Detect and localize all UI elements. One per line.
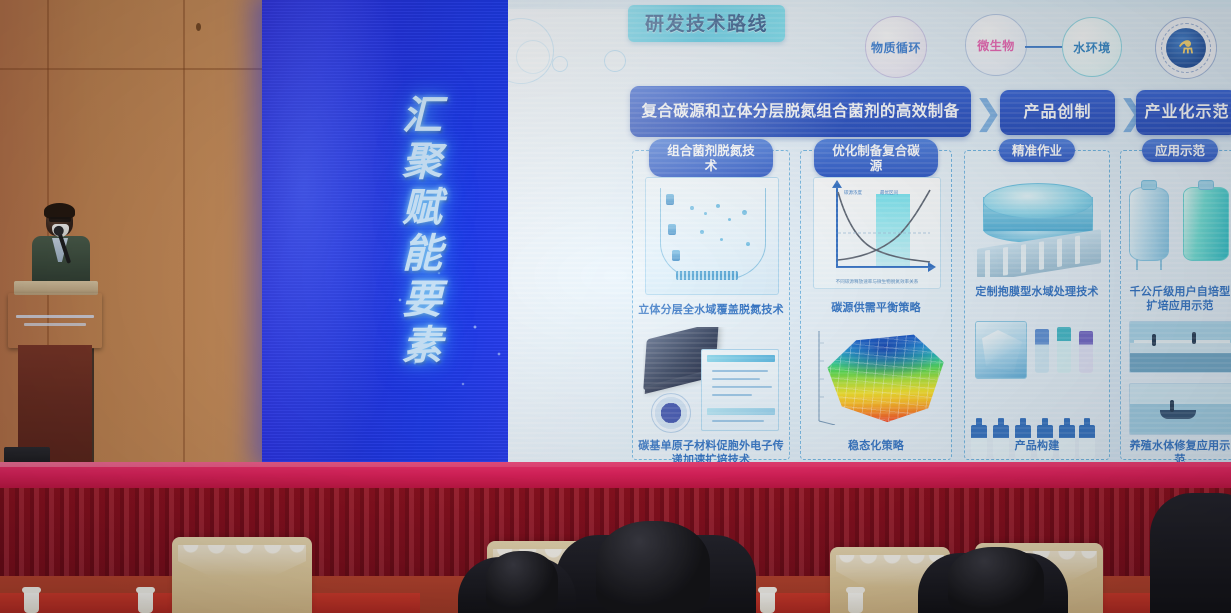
carbon-source-line-chart: 碳源浓度 最优区间 不同碳源释放速率与微生物脱氮效率关系 <box>813 177 941 289</box>
column-4-heading: 应用示范 <box>1142 139 1218 162</box>
decorative-bubble <box>604 50 626 72</box>
particle-dot <box>720 238 723 241</box>
cup-lid <box>136 587 155 593</box>
cup-lid <box>22 587 41 593</box>
column-2-heading: 优化制备复合碳源 <box>814 139 938 177</box>
tea-cup-icon <box>848 591 863 613</box>
mechanism-diagram-panel <box>701 349 779 431</box>
particle-dot <box>716 204 720 208</box>
conference-photo-scene: 汇聚赋能要素 研发技术路线 物质循环 微生物 水环境 ⚗ 复合碳源和立体分层脱氮… <box>0 0 1231 613</box>
diagram-line <box>712 378 760 380</box>
worker-figure-icon <box>1152 334 1156 346</box>
column-3-heading: 精准作业 <box>999 139 1075 162</box>
tea-cup-icon <box>24 591 39 613</box>
micrograph-icon <box>651 393 691 433</box>
vessel-leg <box>1160 259 1162 270</box>
sensor-icon <box>666 194 674 205</box>
aquarium-schematic-figure <box>645 177 779 295</box>
university-seal-icon: ⚗ <box>1155 17 1217 79</box>
audience-person-shoulders <box>1150 493 1231 613</box>
chair-lace-cover <box>178 545 306 591</box>
vessel-steel-icon <box>1129 187 1169 261</box>
tank-outline <box>660 188 766 280</box>
decorative-bubble <box>508 18 554 84</box>
column-4-caption-bottom: 养殖水体修复应用示范 <box>1125 439 1231 464</box>
particle-dot <box>746 242 750 246</box>
cup-lid <box>758 587 777 593</box>
conveyor-slat <box>1003 247 1008 276</box>
fermentation-vessels-figure <box>1127 177 1231 281</box>
flow-bar-product-creation: 产品创制 <box>1000 90 1115 135</box>
concept-link-line <box>1025 46 1065 48</box>
vessel-culture-icon <box>1183 187 1229 261</box>
projection-screen: 研发技术路线 物质循环 微生物 水环境 ⚗ 复合碳源和立体分层脱氮组合菌剂的高效… <box>508 0 1231 464</box>
product-bottle-icon <box>1057 327 1071 373</box>
worker-figure-icon <box>1192 332 1196 344</box>
product-bag-icon <box>975 321 1027 379</box>
product-bottle-icon <box>1035 329 1049 373</box>
seal-ring <box>1161 23 1211 73</box>
slide-column-1: 组合菌剂脱氮技术 立体分层全水域覆盖脱氮技术 <box>632 150 790 460</box>
particle-dot <box>690 206 694 210</box>
pond-walkway <box>1134 340 1230 343</box>
conveyor-slat <box>1057 238 1062 267</box>
podium-cable <box>92 348 94 466</box>
surface-plot-gridlines <box>825 331 945 423</box>
diagram-line <box>712 394 752 396</box>
concept-bubble-microorganism: 微生物 <box>965 14 1027 76</box>
vessel-cap-icon <box>1198 180 1214 190</box>
chart-band-label: 最优区间 <box>880 190 898 196</box>
plate-and-micrograph-figure <box>643 327 781 435</box>
tea-cup-icon <box>760 591 775 613</box>
led-banner-title: 汇聚赋能要素 <box>372 94 442 370</box>
tea-cup-icon <box>138 591 153 613</box>
decorative-bubble <box>552 56 568 72</box>
podium-sign-line-2 <box>24 323 86 326</box>
conveyor-slat <box>1021 244 1026 273</box>
stage-edge-highlight <box>0 462 1231 467</box>
diagram-strip <box>707 408 775 415</box>
vessel-cap-icon <box>1141 180 1157 190</box>
surface-plot-figure <box>809 323 947 435</box>
wall-seam <box>183 0 185 470</box>
vessel-leg <box>1136 259 1138 270</box>
column-1-caption-top: 立体分层全水域覆盖脱氮技术 <box>637 303 785 317</box>
tank-conveyor-figure <box>975 177 1103 277</box>
diagram-line <box>712 386 772 388</box>
column-3-caption-bottom: 产品构建 <box>969 439 1105 453</box>
flow-bar-preparation: 复合碳源和立体分层脱氮组合菌剂的高效制备 <box>630 86 971 137</box>
audience-person-head <box>596 521 710 613</box>
tank-top-rim <box>983 183 1093 219</box>
flow-bar-industrial-demo: 产业化示范 <box>1136 90 1231 135</box>
column-4-caption-top: 千公斤级用户自培型扩培应用示范 <box>1125 285 1231 313</box>
sensor-icon <box>672 250 680 261</box>
field-photo-pond-edge <box>1129 321 1231 373</box>
boat-icon <box>1160 410 1196 419</box>
worker-figure-icon <box>1170 400 1174 412</box>
podium-sign-line-1 <box>16 315 94 318</box>
conveyor-slat <box>985 250 990 277</box>
product-bottle-icon <box>1079 331 1093 373</box>
cup-lid <box>846 587 865 593</box>
chart-y-label: 碳源浓度 <box>844 190 862 196</box>
slide-column-3: 精准作业 定制抱膜型水域处理技术 <box>964 150 1110 460</box>
concept-bubble-material-cycle: 物质循环 <box>865 16 927 78</box>
column-2-caption-bottom: 稳态化策略 <box>805 439 947 453</box>
conveyor-slat <box>1075 236 1080 265</box>
particle-dot <box>700 230 704 234</box>
diagram-line <box>712 370 768 372</box>
bag-highlight <box>982 330 1022 372</box>
slide-title: 研发技术路线 <box>628 5 785 42</box>
particle-dot <box>742 210 747 215</box>
screen-top-strip <box>508 0 1231 9</box>
diagram-line <box>712 420 764 422</box>
particle-dot <box>728 218 731 221</box>
slide-column-2: 优化制备复合碳源 碳源浓度 最优区间 不同碳源释放速率与微生物脱氮效率关系 碳源… <box>800 150 952 460</box>
glasses-icon <box>49 217 71 222</box>
column-3-caption-top: 定制抱膜型水域处理技术 <box>969 285 1105 299</box>
sensor-icon <box>668 224 676 235</box>
chart-note: 不同碳源释放速率与微生物脱氮效率关系 <box>818 280 936 286</box>
wall-fixture-icon <box>196 23 201 31</box>
led-backdrop-banner: 汇聚赋能要素 <box>262 0 510 462</box>
audience-person-head <box>948 547 1044 613</box>
diagram-strip <box>707 355 775 362</box>
podium-signage-panel <box>8 293 102 348</box>
column-1-caption-bottom: 碳基单原子材料促胞外电子传递加速扩培技术 <box>637 439 785 464</box>
column-2-caption-top: 碳源供需平衡策略 <box>805 301 947 315</box>
conveyor-slat <box>1039 241 1044 270</box>
column-1-heading: 组合菌剂脱氮技术 <box>649 139 773 177</box>
slide-column-4: 应用示范 千公斤级用户自培型扩培应用示范 <box>1120 150 1231 460</box>
concept-bubble-water-environment: 水环境 <box>1062 17 1122 77</box>
audience-chair <box>172 537 312 613</box>
sediment-layer <box>676 271 738 280</box>
chart-curves <box>836 186 932 268</box>
field-photo-boat <box>1129 383 1231 435</box>
audience-person-head <box>486 551 558 613</box>
particle-dot <box>704 212 707 215</box>
